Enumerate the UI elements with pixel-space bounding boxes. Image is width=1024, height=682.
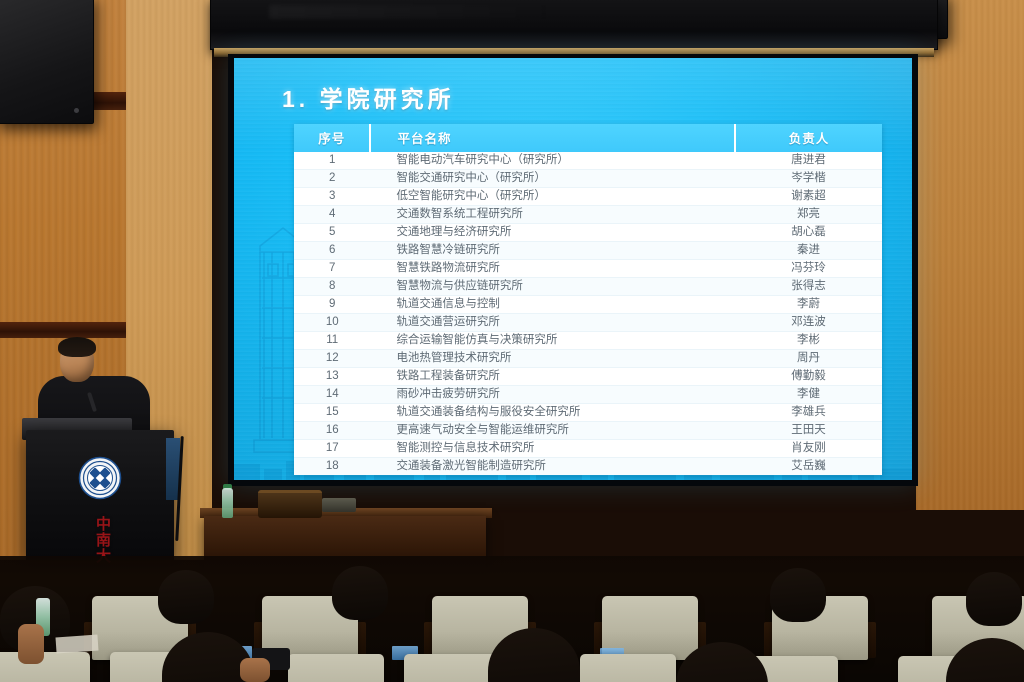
cell-person-in-charge: 李健 (735, 386, 882, 404)
table-row: 3低空智能研究中心（研究所）谢素超 (294, 188, 882, 206)
cell-index: 2 (294, 170, 370, 188)
cell-platform-name: 轨道交通营运研究所 (370, 314, 735, 332)
column-header-platform-name: 平台名称 (370, 124, 735, 152)
table-row: 5交通地理与经济研究所胡心磊 (294, 224, 882, 242)
cell-index: 3 (294, 188, 370, 206)
cell-index: 6 (294, 242, 370, 260)
cell-platform-name: 智能电动汽车研究中心（研究所） (370, 152, 735, 170)
projector-screen-housing (210, 0, 938, 50)
table-row: 11综合运输智能仿真与决策研究所李彬 (294, 332, 882, 350)
cell-person-in-charge: 唐进君 (735, 152, 882, 170)
presenter-hair (58, 337, 96, 357)
table-header-row: 序号 平台名称 负责人 (294, 124, 882, 152)
table-row: 14雨砂冲击疲劳研究所李健 (294, 386, 882, 404)
cell-platform-name: 轨道交通装备结构与服役安全研究所 (370, 404, 735, 422)
cell-platform-name: 交通装备激光智能制造研究所 (370, 458, 735, 476)
university-emblem-icon (78, 456, 122, 500)
cell-platform-name: 智能交通研究中心（研究所） (370, 170, 735, 188)
cell-index: 9 (294, 296, 370, 314)
cell-platform-name: 铁路工程装备研究所 (370, 368, 735, 386)
cell-index: 7 (294, 260, 370, 278)
foreground-hand-holding-phone (240, 658, 270, 682)
foreground-hand-left (18, 624, 44, 664)
projection-screen: 1. 学院研究所 序号 平台名称 负责人 1智能电动汽车研究中心（研究所）唐进君… (228, 54, 918, 486)
cell-platform-name: 低空智能研究中心（研究所） (370, 188, 735, 206)
cell-person-in-charge: 秦进 (735, 242, 882, 260)
cell-platform-name: 智能测控与信息技术研究所 (370, 440, 735, 458)
cell-person-in-charge: 邓连波 (735, 314, 882, 332)
cell-platform-name: 轨道交通信息与控制 (370, 296, 735, 314)
front-table-chair (258, 490, 322, 518)
cell-person-in-charge: 肖友刚 (735, 440, 882, 458)
wall-trim-lower (0, 322, 130, 338)
cell-platform-name: 交通数智系统工程研究所 (370, 206, 735, 224)
table-row: 16更高速气动安全与智能运维研究所王田天 (294, 422, 882, 440)
audience-area: 06 07 08 09 10 (0, 556, 1024, 682)
research-institutes-table: 序号 平台名称 负责人 1智能电动汽车研究中心（研究所）唐进君2智能交通研究中心… (294, 124, 882, 475)
audience-head-back-1 (158, 570, 214, 624)
cell-index: 11 (294, 332, 370, 350)
cell-platform-name: 更高速气动安全与智能运维研究所 (370, 422, 735, 440)
slide-title: 1. 学院研究所 (282, 80, 455, 114)
audience-seat-front-3 (288, 654, 384, 682)
table-water-bottle (222, 488, 233, 518)
table-row: 1智能电动汽车研究中心（研究所）唐进君 (294, 152, 882, 170)
table-row: 15轨道交通装备结构与服役安全研究所李雄兵 (294, 404, 882, 422)
cell-index: 13 (294, 368, 370, 386)
front-table-device (322, 498, 356, 512)
table-row: 9轨道交通信息与控制李蔚 (294, 296, 882, 314)
cell-person-in-charge: 艾岳巍 (735, 458, 882, 476)
audience-seat-front-4 (404, 654, 500, 682)
cell-person-in-charge: 李雄兵 (735, 404, 882, 422)
cell-person-in-charge: 王田天 (735, 422, 882, 440)
cell-person-in-charge: 冯芬玲 (735, 260, 882, 278)
lecture-hall-scene: 1. 学院研究所 序号 平台名称 负责人 1智能电动汽车研究中心（研究所）唐进君… (0, 0, 1024, 682)
foreground-paper (55, 635, 98, 654)
cell-index: 18 (294, 458, 370, 476)
cell-platform-name: 电池热管理技术研究所 (370, 350, 735, 368)
speaking-podium: 中南大 (26, 430, 174, 560)
table-row: 4交通数智系统工程研究所郑亮 (294, 206, 882, 224)
presentation-slide: 1. 学院研究所 序号 平台名称 负责人 1智能电动汽车研究中心（研究所）唐进君… (234, 58, 912, 480)
cell-person-in-charge: 胡心磊 (735, 224, 882, 242)
cell-platform-name: 智慧物流与供应链研究所 (370, 278, 735, 296)
cell-platform-name: 智慧铁路物流研究所 (370, 260, 735, 278)
cell-index: 8 (294, 278, 370, 296)
cell-index: 5 (294, 224, 370, 242)
table-row: 17智能测控与信息技术研究所肖友刚 (294, 440, 882, 458)
column-header-person-in-charge: 负责人 (735, 124, 882, 152)
cell-index: 10 (294, 314, 370, 332)
cell-index: 12 (294, 350, 370, 368)
table-row: 10轨道交通营运研究所邓连波 (294, 314, 882, 332)
audience-head-back-3 (770, 568, 826, 622)
cell-index: 17 (294, 440, 370, 458)
table-row: 6铁路智慧冷链研究所秦进 (294, 242, 882, 260)
table-row: 13铁路工程装备研究所傅勤毅 (294, 368, 882, 386)
table-row: 2智能交通研究中心（研究所）岑学楷 (294, 170, 882, 188)
audience-seat-front-1 (0, 652, 90, 682)
cell-person-in-charge: 李彬 (735, 332, 882, 350)
audience-head-back-4 (966, 572, 1022, 626)
cell-person-in-charge: 岑学楷 (735, 170, 882, 188)
cell-person-in-charge: 谢素超 (735, 188, 882, 206)
cell-index: 14 (294, 386, 370, 404)
cell-platform-name: 综合运输智能仿真与决策研究所 (370, 332, 735, 350)
cell-person-in-charge: 傅勤毅 (735, 368, 882, 386)
wall-panel-right (916, 0, 1024, 510)
cell-person-in-charge: 周丹 (735, 350, 882, 368)
cell-person-in-charge: 张得志 (735, 278, 882, 296)
table-header: 序号 平台名称 负责人 (294, 124, 882, 152)
table-row: 12电池热管理技术研究所周丹 (294, 350, 882, 368)
column-header-index: 序号 (294, 124, 370, 152)
slide-table-container: 序号 平台名称 负责人 1智能电动汽车研究中心（研究所）唐进君2智能交通研究中心… (294, 124, 882, 475)
table-row: 7智慧铁路物流研究所冯芬玲 (294, 260, 882, 278)
table-body: 1智能电动汽车研究中心（研究所）唐进君2智能交通研究中心（研究所）岑学楷3低空智… (294, 152, 882, 475)
speaker-indicator-icon (74, 108, 79, 113)
cell-platform-name: 铁路智慧冷链研究所 (370, 242, 735, 260)
cell-platform-name: 雨砂冲击疲劳研究所 (370, 386, 735, 404)
cell-platform-name: 交通地理与经济研究所 (370, 224, 735, 242)
audience-seat-front-5 (580, 654, 676, 682)
cell-index: 15 (294, 404, 370, 422)
table-row: 18交通装备激光智能制造研究所艾岳巍 (294, 458, 882, 476)
audience-head-back-2 (332, 566, 388, 620)
ceiling-speaker-left (0, 0, 94, 124)
table-row: 8智慧物流与供应链研究所张得志 (294, 278, 882, 296)
cell-person-in-charge: 郑亮 (735, 206, 882, 224)
cell-index: 4 (294, 206, 370, 224)
cell-person-in-charge: 李蔚 (735, 296, 882, 314)
cell-index: 1 (294, 152, 370, 170)
cell-index: 16 (294, 422, 370, 440)
